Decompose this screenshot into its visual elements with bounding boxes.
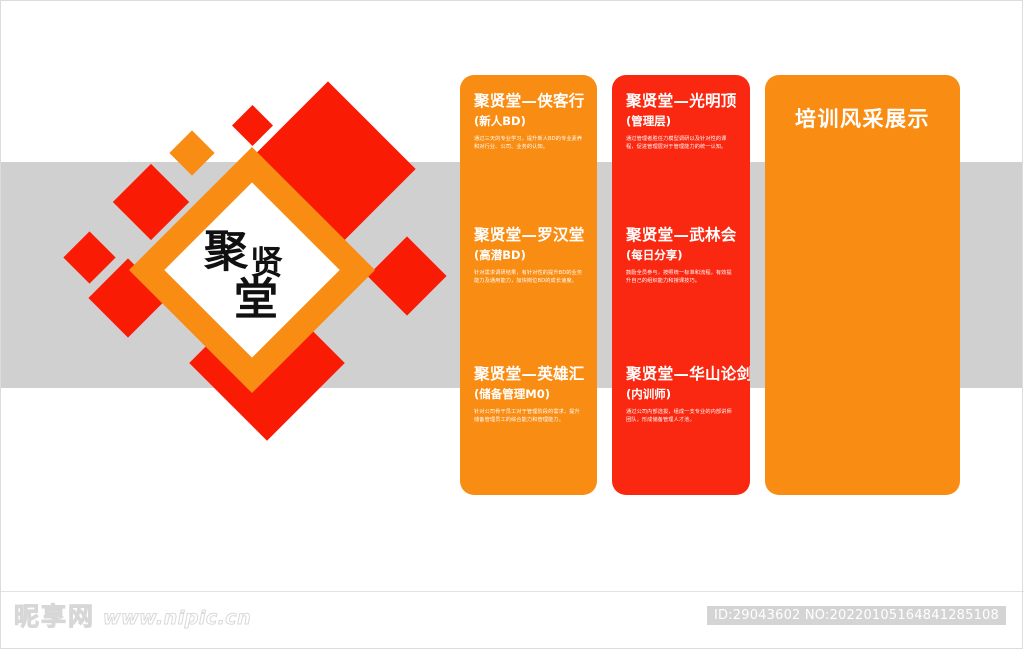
block-title: 聚贤堂—侠客行 bbox=[474, 93, 583, 111]
panel-1-block-2: 聚贤堂—罗汉堂 (高潜BD) 针对需求调研结果，有针对性的提升BD的业务能力及通… bbox=[460, 227, 597, 285]
block-subtitle: (内训师) bbox=[626, 388, 736, 401]
logo-jxt: 聚 贤 堂 bbox=[187, 205, 317, 335]
panel-2-block-3: 聚贤堂—华山论剑 (内训师) 通过公司内部选拔，组成一支专业的内部讲师团队，形成… bbox=[612, 366, 750, 424]
block-title: 聚贤堂—光明顶 bbox=[626, 93, 736, 111]
block-description: 通过三天的专业学习，提升新人BD的专业素养和对行业、公司、业务的认知。 bbox=[474, 135, 583, 151]
panel-2-block-2: 聚贤堂—武林会 (每日分享) 鼓励全员参与，按照统一标准和流程，有效提升自己的组… bbox=[612, 227, 750, 285]
block-description: 通过管理者胜任力模型调研以及针对性的课程，促进管理层对于管理能力的统一认知。 bbox=[626, 135, 736, 151]
decor-diamond-red-small-top bbox=[232, 105, 273, 146]
block-title: 聚贤堂—罗汉堂 bbox=[474, 227, 583, 245]
panel-1[interactable]: 聚贤堂—侠客行 (新人BD) 通过三天的专业学习，提升新人BD的专业素养和对行业… bbox=[460, 75, 597, 495]
panel-2-block-1: 聚贤堂—光明顶 (管理层) 通过管理者胜任力模型调研以及针对性的课程，促进管理层… bbox=[612, 93, 750, 151]
panel-1-block-3: 聚贤堂—英雄汇 (储备管理M0) 针对公司骨干员工对于管理阶段的需求，提升储备管… bbox=[460, 366, 597, 424]
watermark-logo-text: 昵享网 bbox=[14, 604, 95, 629]
panel-3-title: 培训风采展示 bbox=[765, 103, 960, 133]
block-subtitle: (每日分享) bbox=[626, 249, 736, 262]
logo-char-tang: 堂 bbox=[234, 274, 278, 318]
asset-id-badge: ID:29043602 NO:20220105164841285108 bbox=[707, 606, 1006, 625]
block-subtitle: (高潜BD) bbox=[474, 249, 583, 262]
logo-char-ju: 聚 bbox=[204, 226, 249, 277]
block-title: 聚贤堂—武林会 bbox=[626, 227, 736, 245]
block-title: 聚贤堂—华山论剑 bbox=[626, 366, 736, 384]
panel-2[interactable]: 聚贤堂—光明顶 (管理层) 通过管理者胜任力模型调研以及针对性的课程，促进管理层… bbox=[612, 75, 750, 495]
panel-3[interactable]: 培训风采展示 bbox=[765, 75, 960, 495]
block-title: 聚贤堂—英雄汇 bbox=[474, 366, 583, 384]
block-description: 通过公司内部选拔，组成一支专业的内部讲师团队，形成储备管理人才池。 bbox=[626, 408, 736, 424]
block-description: 针对需求调研结果，有针对性的提升BD的业务能力及通用能力，加快岗位BD的成长速度… bbox=[474, 269, 583, 285]
block-subtitle: (管理层) bbox=[626, 115, 736, 128]
block-description: 针对公司骨干员工对于管理阶段的需求，提升储备管理员工的综合能力和管理能力。 bbox=[474, 408, 583, 424]
block-subtitle: (新人BD) bbox=[474, 115, 583, 128]
block-description: 鼓励全员参与，按照统一标准和流程，有效提升自己的组织能力和授课技巧。 bbox=[626, 269, 736, 285]
panel-1-block-1: 聚贤堂—侠客行 (新人BD) 通过三天的专业学习，提升新人BD的专业素养和对行业… bbox=[460, 93, 597, 151]
watermark: 昵享网 www.nipic.cn bbox=[14, 604, 251, 629]
footer-bar: 昵享网 www.nipic.cn ID:29043602 NO:20220105… bbox=[0, 591, 1024, 650]
watermark-url: www.nipic.cn bbox=[103, 608, 251, 629]
block-subtitle: (储备管理M0) bbox=[474, 388, 583, 401]
poster-canvas: 聚 贤 堂 聚贤堂—侠客行 (新人BD) 通过三天的专业学习，提升新人BD的专业… bbox=[0, 0, 1024, 650]
